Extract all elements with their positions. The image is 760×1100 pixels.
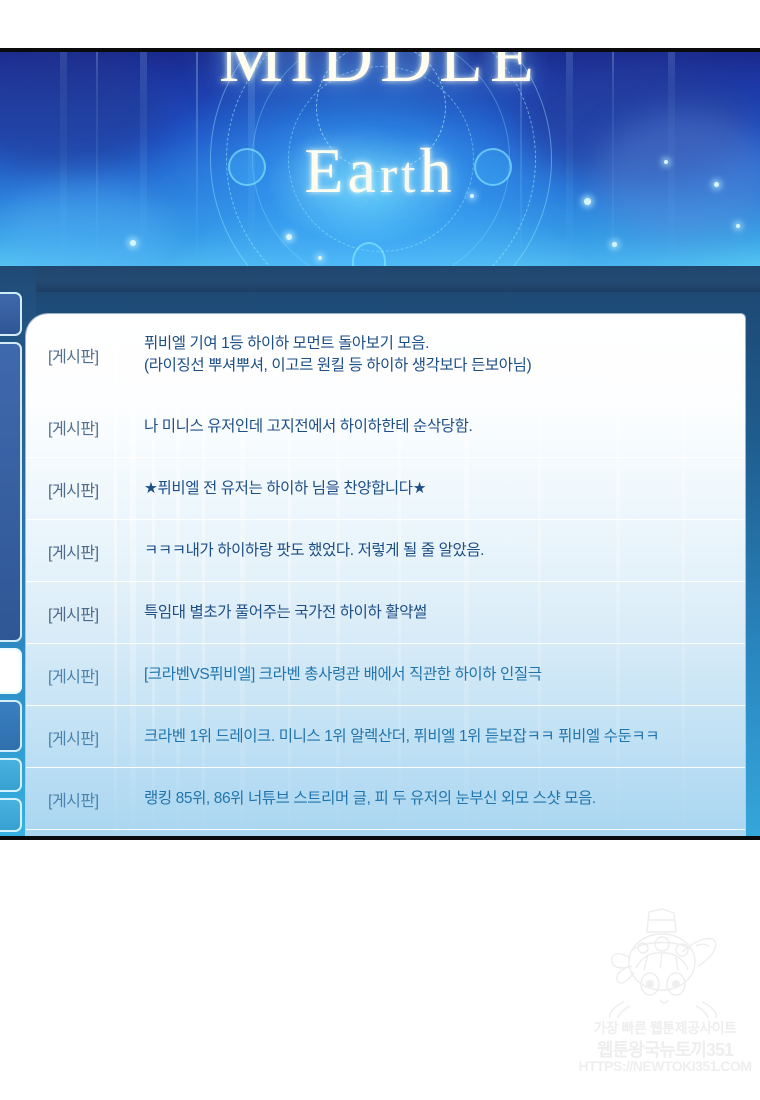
frame-top-border [0, 48, 760, 52]
row-tag: [게시판] [48, 663, 144, 687]
sidebar-tab-3-selected[interactable] [0, 648, 22, 694]
row-tag: [게시판] [48, 477, 144, 501]
page-top-margin [0, 0, 760, 48]
site-watermark: 가장 빠른 웹툰제공사이트 웹툰왕국뉴토끼351 HTTPS://NEWTOKI… [576, 906, 754, 1086]
sparkle-icon [286, 234, 292, 240]
sidebar-tab-4[interactable] [0, 700, 22, 752]
row-title[interactable]: [크라벤VS퓌비엘] 크라벤 총사령관 배에서 직관한 하이하 인질극 [144, 664, 542, 686]
table-row[interactable]: [게시판] [크라벤VS퓌비엘] 크라벤 총사령관 배에서 직관한 하이하 인질… [26, 644, 745, 706]
sparkle-icon [736, 224, 740, 228]
sparkle-icon [318, 256, 322, 260]
table-row[interactable]: [게시판] 랭킹 85위, 86위 너튜브 스트리머 글, 피 두 유저의 눈부… [26, 768, 745, 830]
row-title[interactable]: 특임대 별초가 풀어주는 국가전 하이하 활약썰 [144, 602, 427, 624]
banner-bottom-strip [0, 266, 760, 292]
row-tag: [게시판] [48, 343, 144, 367]
row-tag: [게시판] [48, 725, 144, 749]
row-title[interactable]: ㅋㅋㅋ내가 하이하랑 팟도 했었다. 저렇게 될 줄 알았음. [144, 540, 484, 562]
row-tag: [게시판] [48, 539, 144, 563]
banner-title-rt: rt [380, 147, 420, 204]
board-post-list[interactable]: [게시판] 퓌비엘 기여 1등 하이하 모먼트 돌아보기 모음. (라이징선 뿌… [26, 314, 745, 836]
sparkle-icon [130, 240, 136, 246]
row-tag: [게시판] [48, 415, 144, 439]
table-row[interactable]: [게시판] ★퓌비엘 전 유저는 하이하 님을 찬양합니다★ [26, 458, 745, 520]
sidebar-tab-6[interactable] [0, 798, 22, 832]
sparkle-icon [612, 242, 617, 247]
row-tag: [게시판] [48, 787, 144, 811]
sidebar-tab-5[interactable] [0, 758, 22, 792]
banner-title-line-1: MIDDLE [0, 52, 760, 99]
banner-title-ea: Ea [304, 135, 380, 206]
row-tag: [게시판] [48, 601, 144, 625]
table-row[interactable]: [게시판] ㅋㅋㅋ내가 하이하랑 팟도 했었다. 저렇게 될 줄 알았음. [26, 520, 745, 582]
row-title[interactable]: ★퓌비엘 전 유저는 하이하 님을 찬양합니다★ [144, 478, 426, 500]
watermark-line-3: HTTPS://NEWTOKI351.COM [576, 1058, 754, 1074]
table-row[interactable]: [게시판] 나 미니스 유저인데 고지전에서 하이하한테 순삭당함. [26, 396, 745, 458]
sidebar-tab-1[interactable] [0, 292, 22, 336]
table-row[interactable]: [게시판] 퓌비엘 기여 1등 하이하 모먼트 돌아보기 모음. (라이징선 뿌… [26, 314, 745, 396]
mascot-character-icon [600, 906, 726, 1018]
frame-bottom-border [0, 836, 760, 840]
table-row[interactable]: [게시판] 크라벤 1위 드레이크. 미니스 1위 알렉산더, 퓌비엘 1위 듣… [26, 706, 745, 768]
watermark-line-1: 가장 빠른 웹툰제공사이트 [576, 1018, 754, 1038]
banner-title-h: h [420, 135, 456, 206]
row-title[interactable]: 나 미니스 유저인데 고지전에서 하이하한테 순삭당함. [144, 416, 472, 438]
row-title[interactable]: 크라벤 1위 드레이크. 미니스 1위 알렉산더, 퓌비엘 1위 듣보잡ㅋㅋ 퓌… [144, 726, 659, 748]
banner-title-line-2: Earth [0, 134, 760, 208]
table-row[interactable]: [게시판] 특임대 별초가 풀어주는 국가전 하이하 활약썰 [26, 582, 745, 644]
game-title-banner: MIDDLE Earth [0, 52, 760, 266]
game-screenshot-frame: MIDDLE Earth [0, 48, 760, 840]
board-list-region: [게시판] 퓌비엘 기여 1등 하이하 모먼트 돌아보기 모음. (라이징선 뿌… [0, 266, 760, 836]
row-title[interactable]: 랭킹 85위, 86위 너튜브 스트리머 글, 피 두 유저의 눈부신 외모 스… [144, 788, 596, 810]
row-title[interactable]: 퓌비엘 기여 1등 하이하 모먼트 돌아보기 모음. (라이징선 뿌셔뿌셔, 이… [144, 333, 531, 377]
sidebar-tab-2[interactable] [0, 342, 22, 642]
